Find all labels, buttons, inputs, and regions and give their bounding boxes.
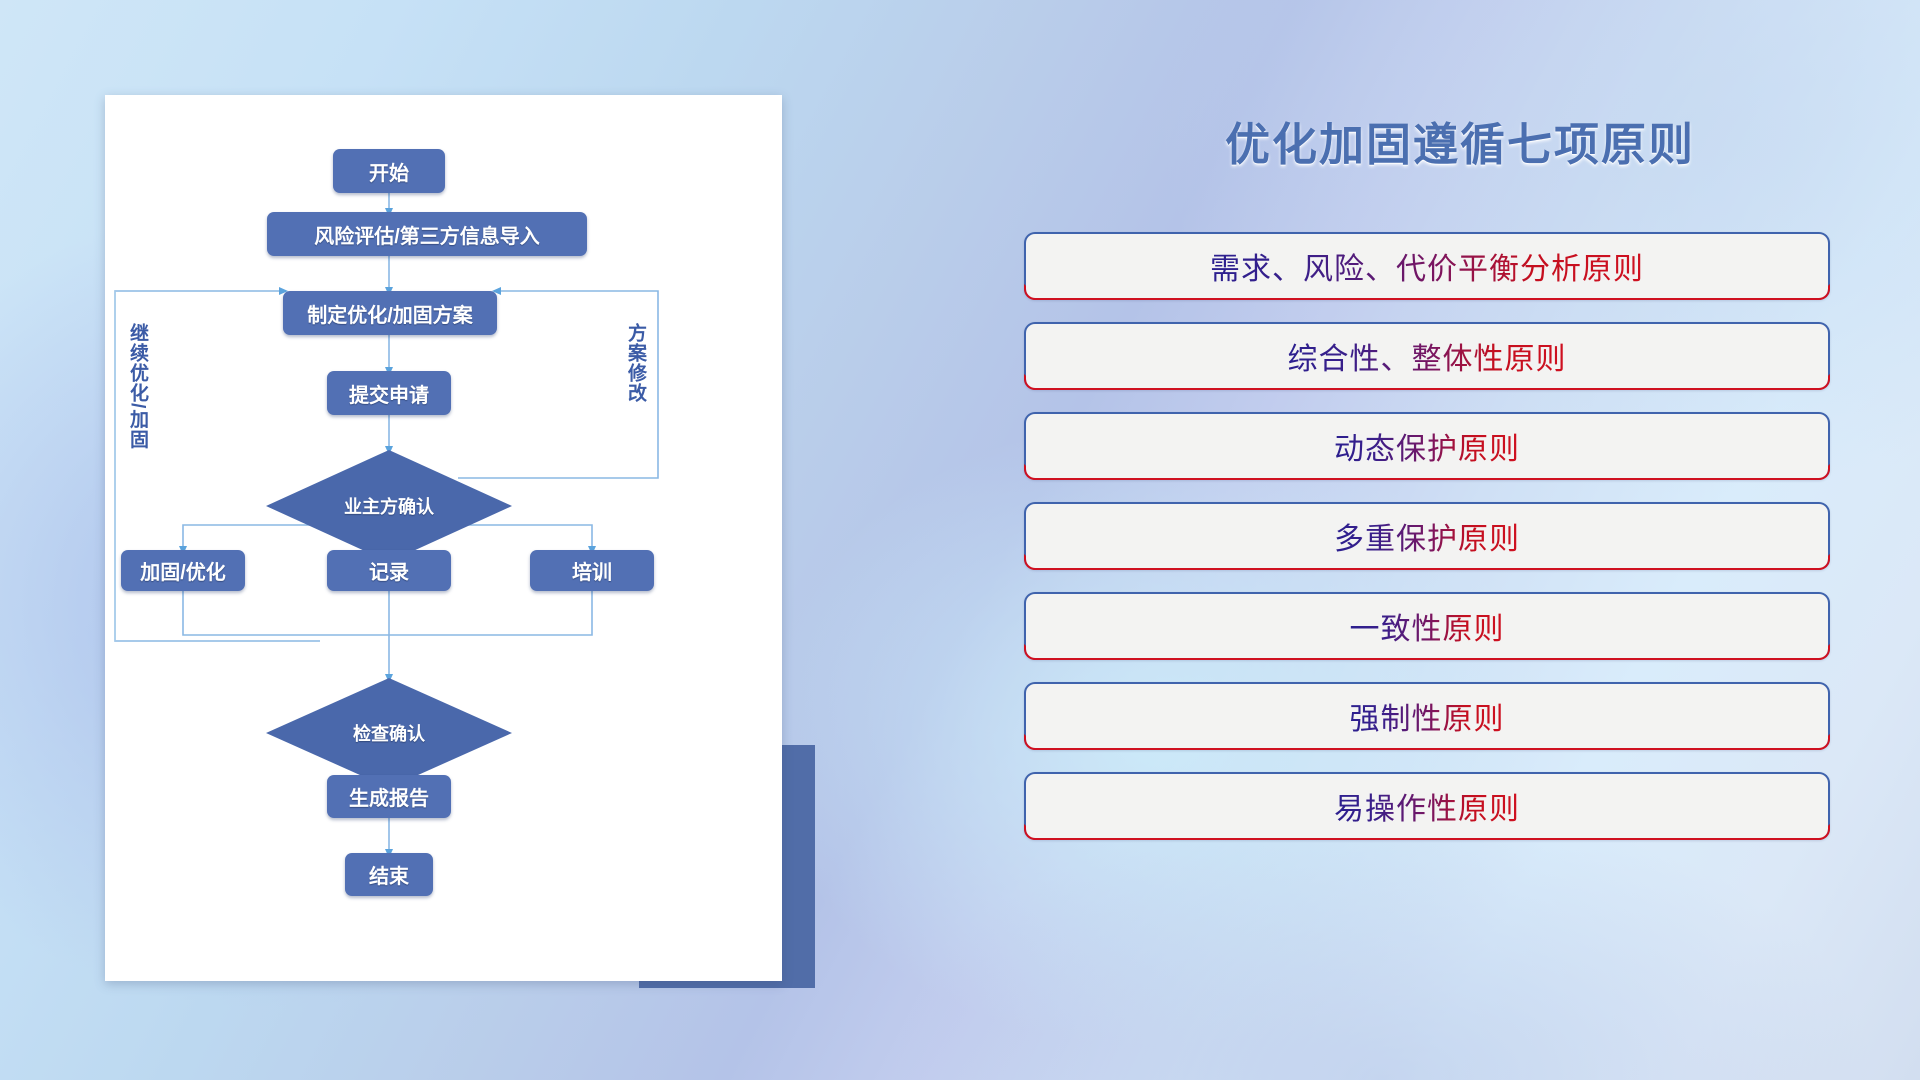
page-title: 优化加固遵循七项原则 (1000, 108, 1920, 173)
principles-panel: 优化加固遵循七项原则 需求、风险、代价平衡分析原则 综合性、整体性原则 动态保护… (1000, 0, 1920, 1080)
flow-node-plan[interactable]: 制定优化/加固方案 (283, 291, 497, 335)
flow-node-generate-report-label: 生成报告 (349, 782, 429, 811)
principle-item-4[interactable]: 多重保护原则 (1024, 502, 1830, 570)
flowchart-card: 开始 风险评估/第三方信息导入 制定优化/加固方案 提交申请 业主方确认 加固/… (105, 95, 782, 981)
principle-item-7-label: 易操作性原则 (1334, 784, 1520, 828)
principle-item-5-label: 一致性原则 (1350, 604, 1505, 648)
principle-item-6[interactable]: 强制性原则 (1024, 682, 1830, 750)
flow-node-record[interactable]: 记录 (327, 550, 451, 591)
flowchart-panel: 开始 风险评估/第三方信息导入 制定优化/加固方案 提交申请 业主方确认 加固/… (0, 0, 860, 1080)
flow-node-end-label: 结束 (369, 860, 409, 889)
principle-item-3[interactable]: 动态保护原则 (1024, 412, 1830, 480)
principle-item-2[interactable]: 综合性、整体性原则 (1024, 322, 1830, 390)
flow-node-reinforce-label: 加固/优化 (140, 556, 226, 585)
flow-node-generate-report[interactable]: 生成报告 (327, 775, 451, 818)
flow-node-submit-application-label: 提交申请 (349, 379, 429, 408)
flow-node-plan-label: 制定优化/加固方案 (307, 299, 473, 328)
flow-node-check-confirm-label: 检查确认 (353, 720, 425, 746)
principle-item-3-label: 动态保护原则 (1334, 424, 1520, 468)
flow-node-training[interactable]: 培训 (530, 550, 654, 591)
principle-item-2-label: 综合性、整体性原则 (1288, 334, 1567, 378)
flow-node-risk-assessment[interactable]: 风险评估/第三方信息导入 (267, 212, 587, 256)
flow-node-record-label: 记录 (369, 556, 409, 585)
principle-item-1-label: 需求、风险、代价平衡分析原则 (1210, 244, 1644, 288)
principle-item-7[interactable]: 易操作性原则 (1024, 772, 1830, 840)
flow-node-submit-application[interactable]: 提交申请 (327, 371, 451, 415)
flow-node-owner-confirm-label: 业主方确认 (344, 493, 434, 519)
flow-node-reinforce[interactable]: 加固/优化 (121, 550, 245, 591)
principle-item-1[interactable]: 需求、风险、代价平衡分析原则 (1024, 232, 1830, 300)
flow-node-end[interactable]: 结束 (345, 853, 433, 896)
principle-item-5[interactable]: 一致性原则 (1024, 592, 1830, 660)
flow-node-risk-assessment-label: 风险评估/第三方信息导入 (314, 220, 540, 249)
principle-item-6-label: 强制性原则 (1350, 694, 1505, 738)
principles-list: 需求、风险、代价平衡分析原则 综合性、整体性原则 动态保护原则 多重保护原则 一… (1024, 232, 1830, 862)
flow-edge-label-plan-revision: 方案修改 (625, 323, 645, 443)
flow-node-start[interactable]: 开始 (333, 149, 445, 193)
principle-item-4-label: 多重保护原则 (1334, 514, 1520, 558)
flow-node-training-label: 培训 (572, 556, 612, 585)
flow-node-start-label: 开始 (369, 157, 409, 186)
flow-edge-label-continue-optimize: 继续优化/加固 (127, 323, 147, 473)
